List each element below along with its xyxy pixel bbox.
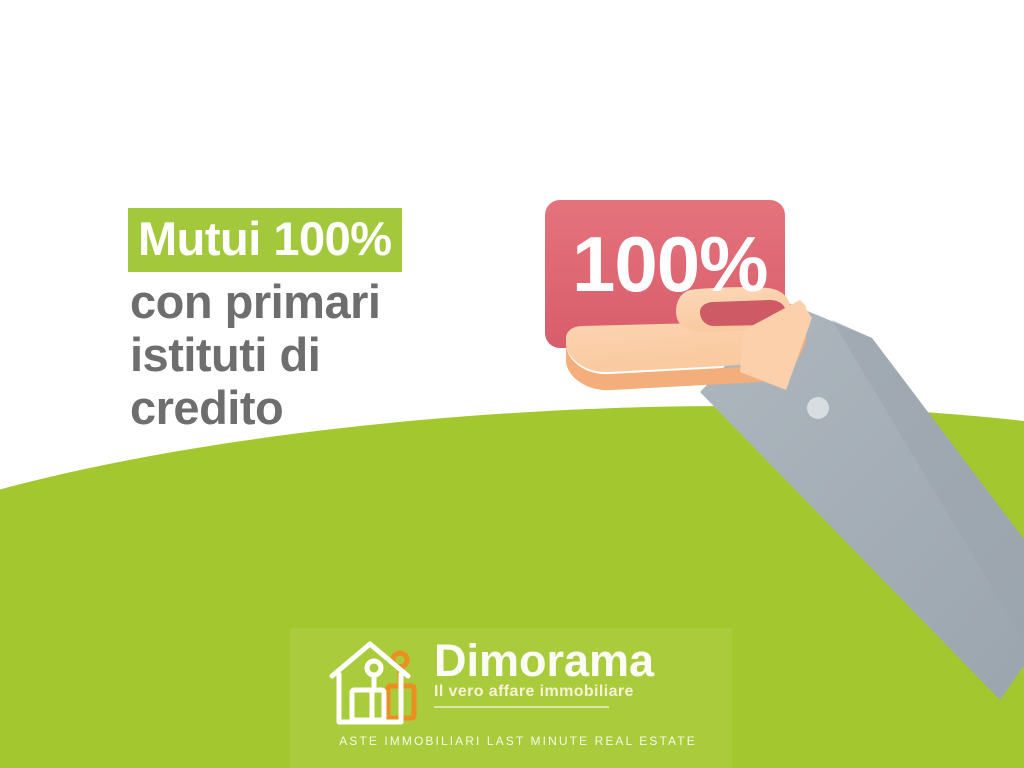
house-key-icon	[326, 634, 430, 726]
brand-logo-lockup[interactable]: Dimorama Il vero affare immobiliare ASTE…	[326, 634, 706, 754]
headline-highlight: Mutui 100%	[128, 208, 402, 272]
headline-line-3: istituti di	[128, 328, 548, 381]
tagline-divider	[434, 706, 609, 708]
headline-line-1: Mutui 100%	[128, 208, 548, 275]
brand-name: Dimorama	[434, 638, 704, 684]
brand-wordmark: Dimorama Il vero affare immobiliare	[434, 638, 704, 708]
card-percent-label: 100%	[572, 220, 768, 308]
headline-line-2: con primari	[128, 275, 548, 328]
promo-banner: 100% Mutui 100% con primari istituti di …	[0, 0, 1024, 768]
headline-line-4: credito	[128, 381, 548, 434]
brand-subtitle: ASTE IMMOBILIARI LAST MINUTE REAL ESTATE	[328, 734, 708, 748]
brand-tagline: Il vero affare immobiliare	[434, 682, 704, 702]
cuff-button-icon	[807, 397, 829, 419]
headline-block: Mutui 100% con primari istituti di credi…	[128, 208, 548, 434]
